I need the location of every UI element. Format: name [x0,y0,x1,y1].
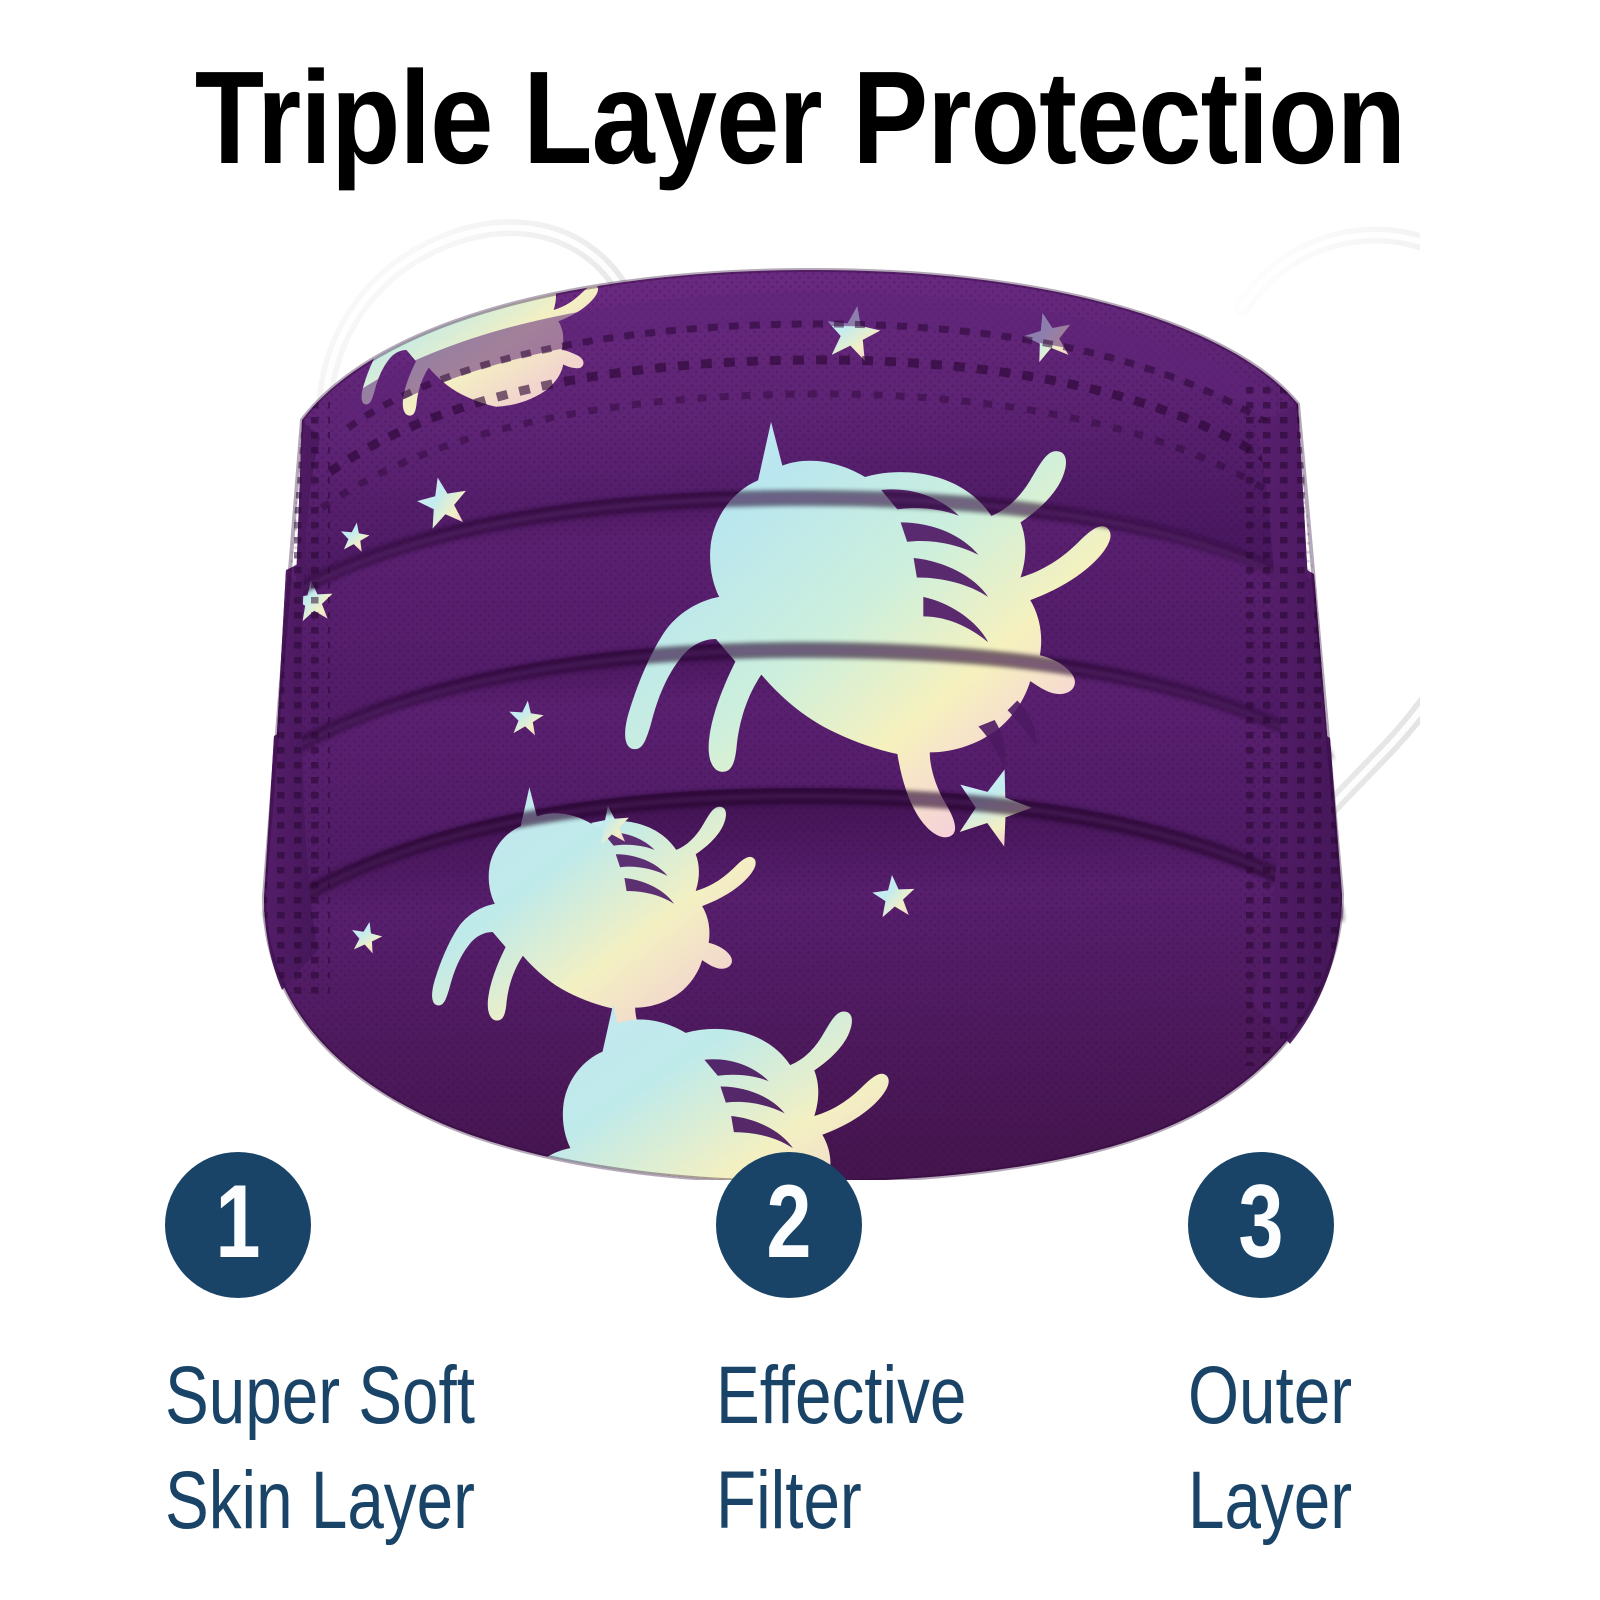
face-mask-illustration [190,190,1420,1180]
feature-number-2: 2 [766,1170,811,1274]
feature-item-1: 1 Super Soft Skin Layer [165,1152,552,1554]
feature-badge-2: 2 [716,1152,862,1298]
feature-list: 1 Super Soft Skin Layer 2 Effective Filt… [0,1152,1600,1582]
feature-label-2-line2: Filter [716,1449,966,1554]
feature-label-2-line1: Effective [716,1344,966,1449]
feature-label-3: Outer Layer [1188,1344,1352,1554]
infographic-page: Triple Layer Protection [0,0,1600,1600]
feature-item-3: 3 Outer Layer [1188,1152,1393,1554]
feature-label-1-line2: Skin Layer [165,1449,475,1554]
feature-label-2: Effective Filter [716,1344,966,1554]
feature-badge-1: 1 [165,1152,311,1298]
page-title: Triple Layer Protection [112,52,1488,184]
product-image-face-mask [190,190,1420,1180]
feature-number-3: 3 [1238,1170,1283,1274]
feature-number-1: 1 [215,1170,260,1274]
feature-badge-3: 3 [1188,1152,1334,1298]
feature-label-3-line2: Layer [1188,1449,1352,1554]
feature-label-3-line1: Outer [1188,1344,1352,1449]
feature-item-2: 2 Effective Filter [716,1152,1029,1554]
feature-label-1-line1: Super Soft [165,1344,475,1449]
mask-body [250,243,1370,1180]
feature-label-1: Super Soft Skin Layer [165,1344,475,1554]
